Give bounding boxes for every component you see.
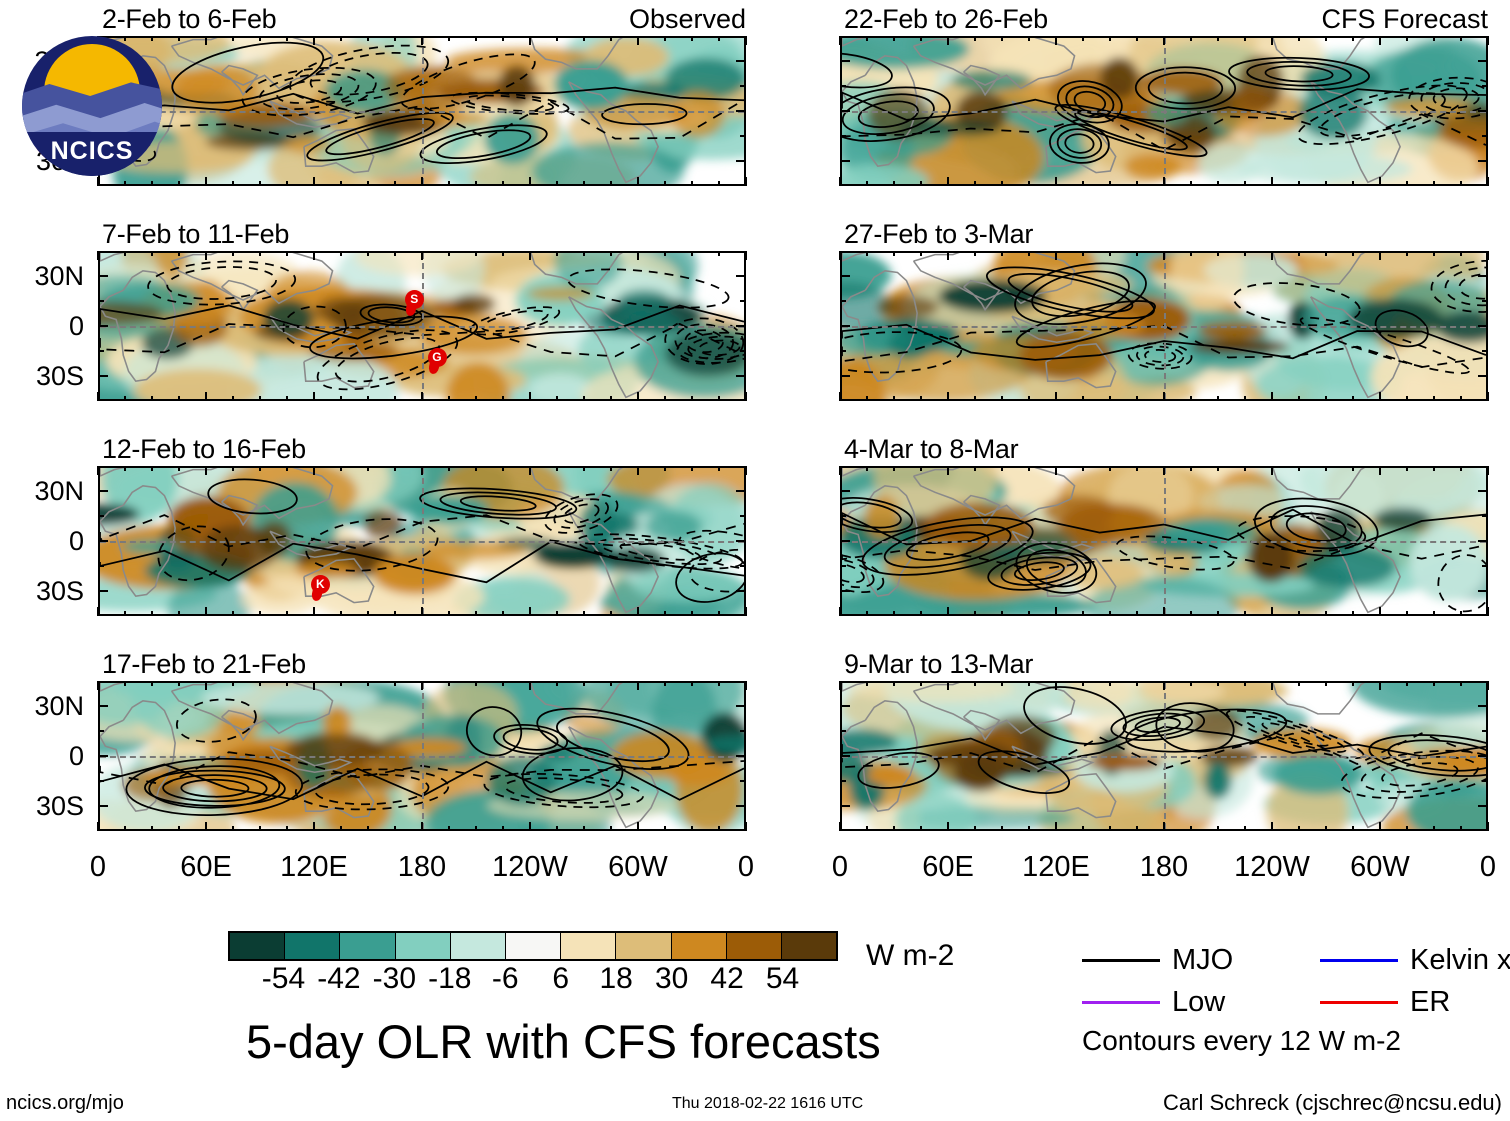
axis-tick xyxy=(502,396,504,401)
axis-tick xyxy=(556,251,558,256)
axis-tick xyxy=(1028,826,1030,831)
axis-tick xyxy=(691,681,693,686)
footer-website[interactable]: ncics.org/mjo xyxy=(6,1093,124,1113)
axis-tick xyxy=(745,681,747,690)
axis-tick xyxy=(1379,251,1381,260)
axis-tick xyxy=(1109,181,1111,186)
axis-tick xyxy=(1379,607,1381,616)
axis-tick xyxy=(448,396,450,401)
axis-tick xyxy=(583,396,585,401)
axis-tick xyxy=(151,251,153,256)
axis-tick xyxy=(1433,396,1435,401)
axis-tick xyxy=(740,565,746,567)
axis-tick xyxy=(1487,36,1489,45)
axis-tick xyxy=(421,36,423,45)
axis-tick xyxy=(1460,181,1462,186)
x-tick-label-1-3: 180 xyxy=(1140,853,1188,882)
axis-tick xyxy=(178,181,180,186)
axis-tick xyxy=(1163,822,1165,831)
axis-tick xyxy=(421,466,423,475)
axis-tick xyxy=(421,177,423,186)
axis-tick xyxy=(421,681,423,690)
axis-tick xyxy=(529,822,531,831)
axis-tick xyxy=(893,466,895,471)
panel-title-3: 17-Feb to 21-Feb xyxy=(102,651,306,678)
axis-tick xyxy=(1352,251,1354,256)
axis-tick xyxy=(1352,681,1354,686)
axis-tick xyxy=(610,396,612,401)
y-tick-label-0: 0 xyxy=(6,528,84,555)
axis-tick xyxy=(232,181,234,186)
axis-tick xyxy=(1487,607,1489,616)
axis-tick xyxy=(1325,251,1327,256)
axis-tick xyxy=(893,396,895,401)
dateline-marker xyxy=(1164,38,1166,184)
axis-tick xyxy=(394,611,396,616)
axis-tick xyxy=(664,36,666,41)
axis-tick xyxy=(124,826,126,831)
axis-tick xyxy=(313,251,315,260)
axis-tick xyxy=(1001,36,1003,41)
axis-tick xyxy=(232,681,234,686)
axis-tick xyxy=(1028,681,1030,686)
colorbar-swatch-2 xyxy=(340,933,395,959)
axis-tick xyxy=(448,36,450,41)
axis-tick xyxy=(205,36,207,45)
axis-tick xyxy=(974,36,976,41)
axis-tick xyxy=(1082,181,1084,186)
legend-line-swatch xyxy=(1320,1001,1398,1004)
axis-tick xyxy=(691,251,693,256)
axis-tick xyxy=(840,490,850,492)
colorbar-tick--42: -42 xyxy=(317,964,360,994)
axis-tick xyxy=(286,826,288,831)
axis-tick xyxy=(610,36,612,41)
dateline-marker xyxy=(1164,468,1166,614)
axis-tick xyxy=(1136,611,1138,616)
y-tick-label-30N: 30N xyxy=(6,263,84,290)
x-tick-label-0-6: 0 xyxy=(738,853,754,882)
axis-tick xyxy=(740,135,746,137)
colorbar-tick-18: 18 xyxy=(599,964,632,994)
axis-tick xyxy=(475,681,477,686)
colorbar-swatch-10 xyxy=(782,933,836,959)
axis-tick xyxy=(1433,681,1435,686)
dateline-marker xyxy=(1164,683,1166,829)
axis-tick xyxy=(151,36,153,41)
axis-tick xyxy=(637,466,639,475)
axis-tick xyxy=(313,392,315,401)
axis-tick xyxy=(1478,275,1488,277)
axis-tick xyxy=(1406,681,1408,686)
axis-tick xyxy=(178,251,180,256)
axis-tick xyxy=(637,822,639,831)
axis-tick xyxy=(1487,251,1489,260)
storm-label: G xyxy=(426,348,448,367)
axis-tick xyxy=(1055,251,1057,260)
axis-tick xyxy=(1190,611,1192,616)
axis-tick xyxy=(1028,36,1030,41)
x-tick-label-1-4: 120W xyxy=(1234,853,1310,882)
axis-tick xyxy=(1406,396,1408,401)
axis-tick xyxy=(340,466,342,471)
axis-tick xyxy=(718,396,720,401)
axis-tick xyxy=(556,466,558,471)
y-tick-label-30S: 30S xyxy=(6,793,84,820)
axis-tick xyxy=(98,275,108,277)
axis-tick xyxy=(1082,36,1084,41)
axis-tick xyxy=(1217,826,1219,831)
axis-tick xyxy=(97,392,99,401)
axis-tick xyxy=(98,705,108,707)
axis-tick xyxy=(1433,611,1435,616)
axis-tick xyxy=(1482,300,1488,302)
axis-tick xyxy=(1482,730,1488,732)
logo-text: NCICS xyxy=(22,137,162,166)
x-tick-label-0-0: 0 xyxy=(90,853,106,882)
axis-tick xyxy=(1406,826,1408,831)
axis-tick xyxy=(259,681,261,686)
axis-tick xyxy=(1244,681,1246,686)
axis-tick xyxy=(736,705,746,707)
panel-title-4: 22-Feb to 26-Feb xyxy=(844,6,1048,33)
axis-tick xyxy=(97,466,99,475)
axis-tick xyxy=(1001,826,1003,831)
axis-tick xyxy=(974,611,976,616)
axis-tick xyxy=(529,392,531,401)
axis-tick xyxy=(866,611,868,616)
axis-tick xyxy=(866,466,868,471)
axis-tick xyxy=(1478,705,1488,707)
axis-tick xyxy=(1379,681,1381,690)
axis-tick xyxy=(475,396,477,401)
axis-tick xyxy=(1244,251,1246,256)
axis-tick xyxy=(1325,466,1327,471)
axis-tick xyxy=(736,805,746,807)
axis-tick xyxy=(556,611,558,616)
axis-tick xyxy=(840,515,846,517)
panel-title-0: 2-Feb to 6-Feb xyxy=(102,6,276,33)
colorbar-swatch-4 xyxy=(451,933,506,959)
axis-tick xyxy=(1379,36,1381,45)
axis-tick xyxy=(718,611,720,616)
axis-tick xyxy=(98,780,104,782)
footer-author: Carl Schreck (cjschrec@ncsu.edu) xyxy=(1163,1092,1502,1114)
y-tick-label-30N: 30N xyxy=(6,478,84,505)
axis-tick xyxy=(1487,466,1489,475)
axis-tick xyxy=(1460,36,1462,41)
axis-tick xyxy=(718,251,720,256)
axis-tick xyxy=(286,36,288,41)
storm-marker-g: G xyxy=(426,348,448,374)
axis-tick xyxy=(502,826,504,831)
axis-tick xyxy=(1271,392,1273,401)
axis-tick xyxy=(1478,160,1488,162)
axis-tick xyxy=(340,611,342,616)
axis-tick xyxy=(448,181,450,186)
axis-tick xyxy=(529,681,531,690)
axis-tick xyxy=(840,590,850,592)
axis-tick xyxy=(1460,396,1462,401)
colorbar-swatch-6 xyxy=(561,933,616,959)
x-tick-label-0-5: 60W xyxy=(608,853,668,882)
axis-tick xyxy=(974,251,976,256)
axis-tick xyxy=(340,681,342,686)
axis-tick xyxy=(866,826,868,831)
axis-tick xyxy=(259,181,261,186)
axis-tick xyxy=(394,251,396,256)
axis-tick xyxy=(718,681,720,686)
dateline-marker xyxy=(1164,253,1166,399)
axis-tick xyxy=(1217,466,1219,471)
axis-tick xyxy=(1271,36,1273,45)
axis-tick xyxy=(839,607,841,616)
axis-tick xyxy=(1244,396,1246,401)
axis-tick xyxy=(1460,826,1462,831)
axis-tick xyxy=(745,392,747,401)
axis-tick xyxy=(610,681,612,686)
map-panel-3 xyxy=(98,681,746,831)
axis-tick xyxy=(893,826,895,831)
axis-tick xyxy=(920,681,922,686)
colorbar-tick-labels: -54-42-30-18-6618304254 xyxy=(228,964,838,998)
axis-tick xyxy=(974,681,976,686)
axis-tick xyxy=(840,350,846,352)
axis-tick xyxy=(1406,251,1408,256)
axis-tick xyxy=(947,466,949,475)
axis-tick xyxy=(1028,251,1030,256)
axis-tick xyxy=(664,611,666,616)
y-tick-label-0: 0 xyxy=(6,743,84,770)
axis-tick xyxy=(313,822,315,831)
axis-tick xyxy=(691,466,693,471)
axis-tick xyxy=(475,36,477,41)
axis-tick xyxy=(259,466,261,471)
colorbar-tick-6: 6 xyxy=(552,964,569,994)
axis-tick xyxy=(1325,826,1327,831)
axis-tick xyxy=(1190,396,1192,401)
axis-tick xyxy=(259,396,261,401)
axis-tick xyxy=(394,826,396,831)
axis-tick xyxy=(1217,681,1219,686)
axis-tick xyxy=(259,826,261,831)
axis-tick xyxy=(1244,36,1246,41)
axis-tick xyxy=(124,611,126,616)
axis-tick xyxy=(1271,251,1273,260)
axis-tick xyxy=(1487,177,1489,186)
x-tick-label-1-0: 0 xyxy=(832,853,848,882)
axis-tick xyxy=(1001,181,1003,186)
axis-tick xyxy=(1460,251,1462,256)
axis-tick xyxy=(151,681,153,686)
axis-tick xyxy=(736,275,746,277)
axis-tick xyxy=(232,826,234,831)
axis-tick xyxy=(637,251,639,260)
axis-tick xyxy=(124,681,126,686)
axis-tick xyxy=(718,826,720,831)
axis-tick xyxy=(178,826,180,831)
axis-tick xyxy=(1298,826,1300,831)
axis-tick xyxy=(1478,755,1488,757)
axis-tick xyxy=(1190,251,1192,256)
axis-tick xyxy=(98,515,104,517)
axis-tick xyxy=(583,251,585,256)
panel-title-2: 12-Feb to 16-Feb xyxy=(102,436,306,463)
map-panel-5 xyxy=(840,251,1488,401)
axis-tick xyxy=(1325,396,1327,401)
axis-tick xyxy=(286,396,288,401)
axis-tick xyxy=(866,396,868,401)
storm-label: S xyxy=(403,290,425,309)
axis-tick xyxy=(1433,251,1435,256)
map-panel-2: K xyxy=(98,466,746,616)
axis-tick xyxy=(151,611,153,616)
axis-tick xyxy=(1136,181,1138,186)
legend-line-swatch xyxy=(1082,1001,1160,1004)
axis-tick xyxy=(178,611,180,616)
x-tick-label-0-2: 120E xyxy=(280,853,348,882)
axis-tick xyxy=(502,36,504,41)
axis-tick xyxy=(1163,177,1165,186)
axis-tick xyxy=(839,822,841,831)
axis-tick xyxy=(124,181,126,186)
storm-marker-s: S xyxy=(403,290,425,316)
axis-tick xyxy=(1478,540,1488,542)
axis-tick xyxy=(1478,805,1488,807)
axis-tick xyxy=(839,177,841,186)
axis-tick xyxy=(610,826,612,831)
axis-tick xyxy=(1298,611,1300,616)
axis-tick xyxy=(1136,36,1138,41)
axis-tick xyxy=(1325,181,1327,186)
dateline-marker xyxy=(422,38,424,184)
axis-tick xyxy=(394,466,396,471)
axis-tick xyxy=(178,396,180,401)
axis-tick xyxy=(1379,466,1381,475)
axis-tick xyxy=(1055,607,1057,616)
axis-tick xyxy=(920,396,922,401)
axis-tick xyxy=(205,177,207,186)
axis-tick xyxy=(421,822,423,831)
axis-tick xyxy=(1163,681,1165,690)
axis-tick xyxy=(1298,181,1300,186)
axis-tick xyxy=(1352,181,1354,186)
axis-tick xyxy=(866,181,868,186)
column-header-forecast: CFS Forecast xyxy=(1321,6,1488,33)
axis-tick xyxy=(151,181,153,186)
axis-tick xyxy=(124,36,126,41)
axis-tick xyxy=(893,181,895,186)
colorbar-swatch-9 xyxy=(727,933,782,959)
axis-tick xyxy=(448,681,450,686)
axis-tick xyxy=(1482,780,1488,782)
colorbar-swatch-1 xyxy=(285,933,340,959)
axis-tick xyxy=(556,826,558,831)
colorbar-tick--18: -18 xyxy=(428,964,471,994)
axis-tick xyxy=(1109,681,1111,686)
panel-title-5: 27-Feb to 3-Mar xyxy=(844,221,1033,248)
axis-tick xyxy=(1109,826,1111,831)
axis-tick xyxy=(367,466,369,471)
axis-tick xyxy=(1406,611,1408,616)
axis-tick xyxy=(475,826,477,831)
axis-tick xyxy=(893,251,895,256)
axis-tick xyxy=(583,681,585,686)
axis-tick xyxy=(1271,822,1273,831)
axis-tick xyxy=(839,466,841,475)
axis-tick xyxy=(124,251,126,256)
axis-tick xyxy=(1001,396,1003,401)
axis-tick xyxy=(1460,611,1462,616)
axis-tick xyxy=(1055,177,1057,186)
axis-tick xyxy=(1433,826,1435,831)
axis-tick xyxy=(151,826,153,831)
axis-tick xyxy=(1109,36,1111,41)
axis-tick xyxy=(98,490,108,492)
axis-tick xyxy=(839,392,841,401)
map-panel-1: SG xyxy=(98,251,746,401)
axis-tick xyxy=(1136,396,1138,401)
colorbar-tick--54: -54 xyxy=(262,964,305,994)
axis-tick xyxy=(286,611,288,616)
map-panel-7 xyxy=(840,681,1488,831)
axis-tick xyxy=(367,36,369,41)
axis-tick xyxy=(610,251,612,256)
x-tick-label-0-4: 120W xyxy=(492,853,568,882)
axis-tick xyxy=(1217,251,1219,256)
axis-tick xyxy=(98,590,108,592)
axis-tick xyxy=(1190,826,1192,831)
axis-tick xyxy=(394,181,396,186)
axis-tick xyxy=(1244,611,1246,616)
axis-tick xyxy=(637,681,639,690)
axis-tick xyxy=(920,826,922,831)
x-tick-label-1-1: 60E xyxy=(922,853,974,882)
axis-tick xyxy=(313,177,315,186)
axis-tick xyxy=(974,396,976,401)
axis-tick xyxy=(340,181,342,186)
axis-tick xyxy=(974,181,976,186)
axis-tick xyxy=(664,681,666,686)
axis-tick xyxy=(740,300,746,302)
legend-line-swatch xyxy=(1082,959,1160,962)
axis-tick xyxy=(840,755,850,757)
axis-tick xyxy=(1136,466,1138,471)
axis-tick xyxy=(1478,375,1488,377)
dateline-marker xyxy=(422,683,424,829)
axis-tick xyxy=(893,681,895,686)
axis-tick xyxy=(97,681,99,690)
axis-tick xyxy=(1244,826,1246,831)
axis-tick xyxy=(232,396,234,401)
axis-tick xyxy=(583,36,585,41)
axis-tick xyxy=(1244,466,1246,471)
axis-tick xyxy=(740,85,746,87)
axis-tick xyxy=(475,466,477,471)
axis-tick xyxy=(664,181,666,186)
colorbar-tick-42: 42 xyxy=(710,964,743,994)
axis-tick xyxy=(232,251,234,256)
axis-tick xyxy=(97,822,99,831)
axis-tick xyxy=(840,160,850,162)
axis-tick xyxy=(475,251,477,256)
axis-tick xyxy=(1406,36,1408,41)
axis-tick xyxy=(1109,466,1111,471)
legend-item-low: Low xyxy=(1082,988,1225,1017)
axis-tick xyxy=(340,826,342,831)
axis-tick xyxy=(718,181,720,186)
axis-tick xyxy=(1163,392,1165,401)
